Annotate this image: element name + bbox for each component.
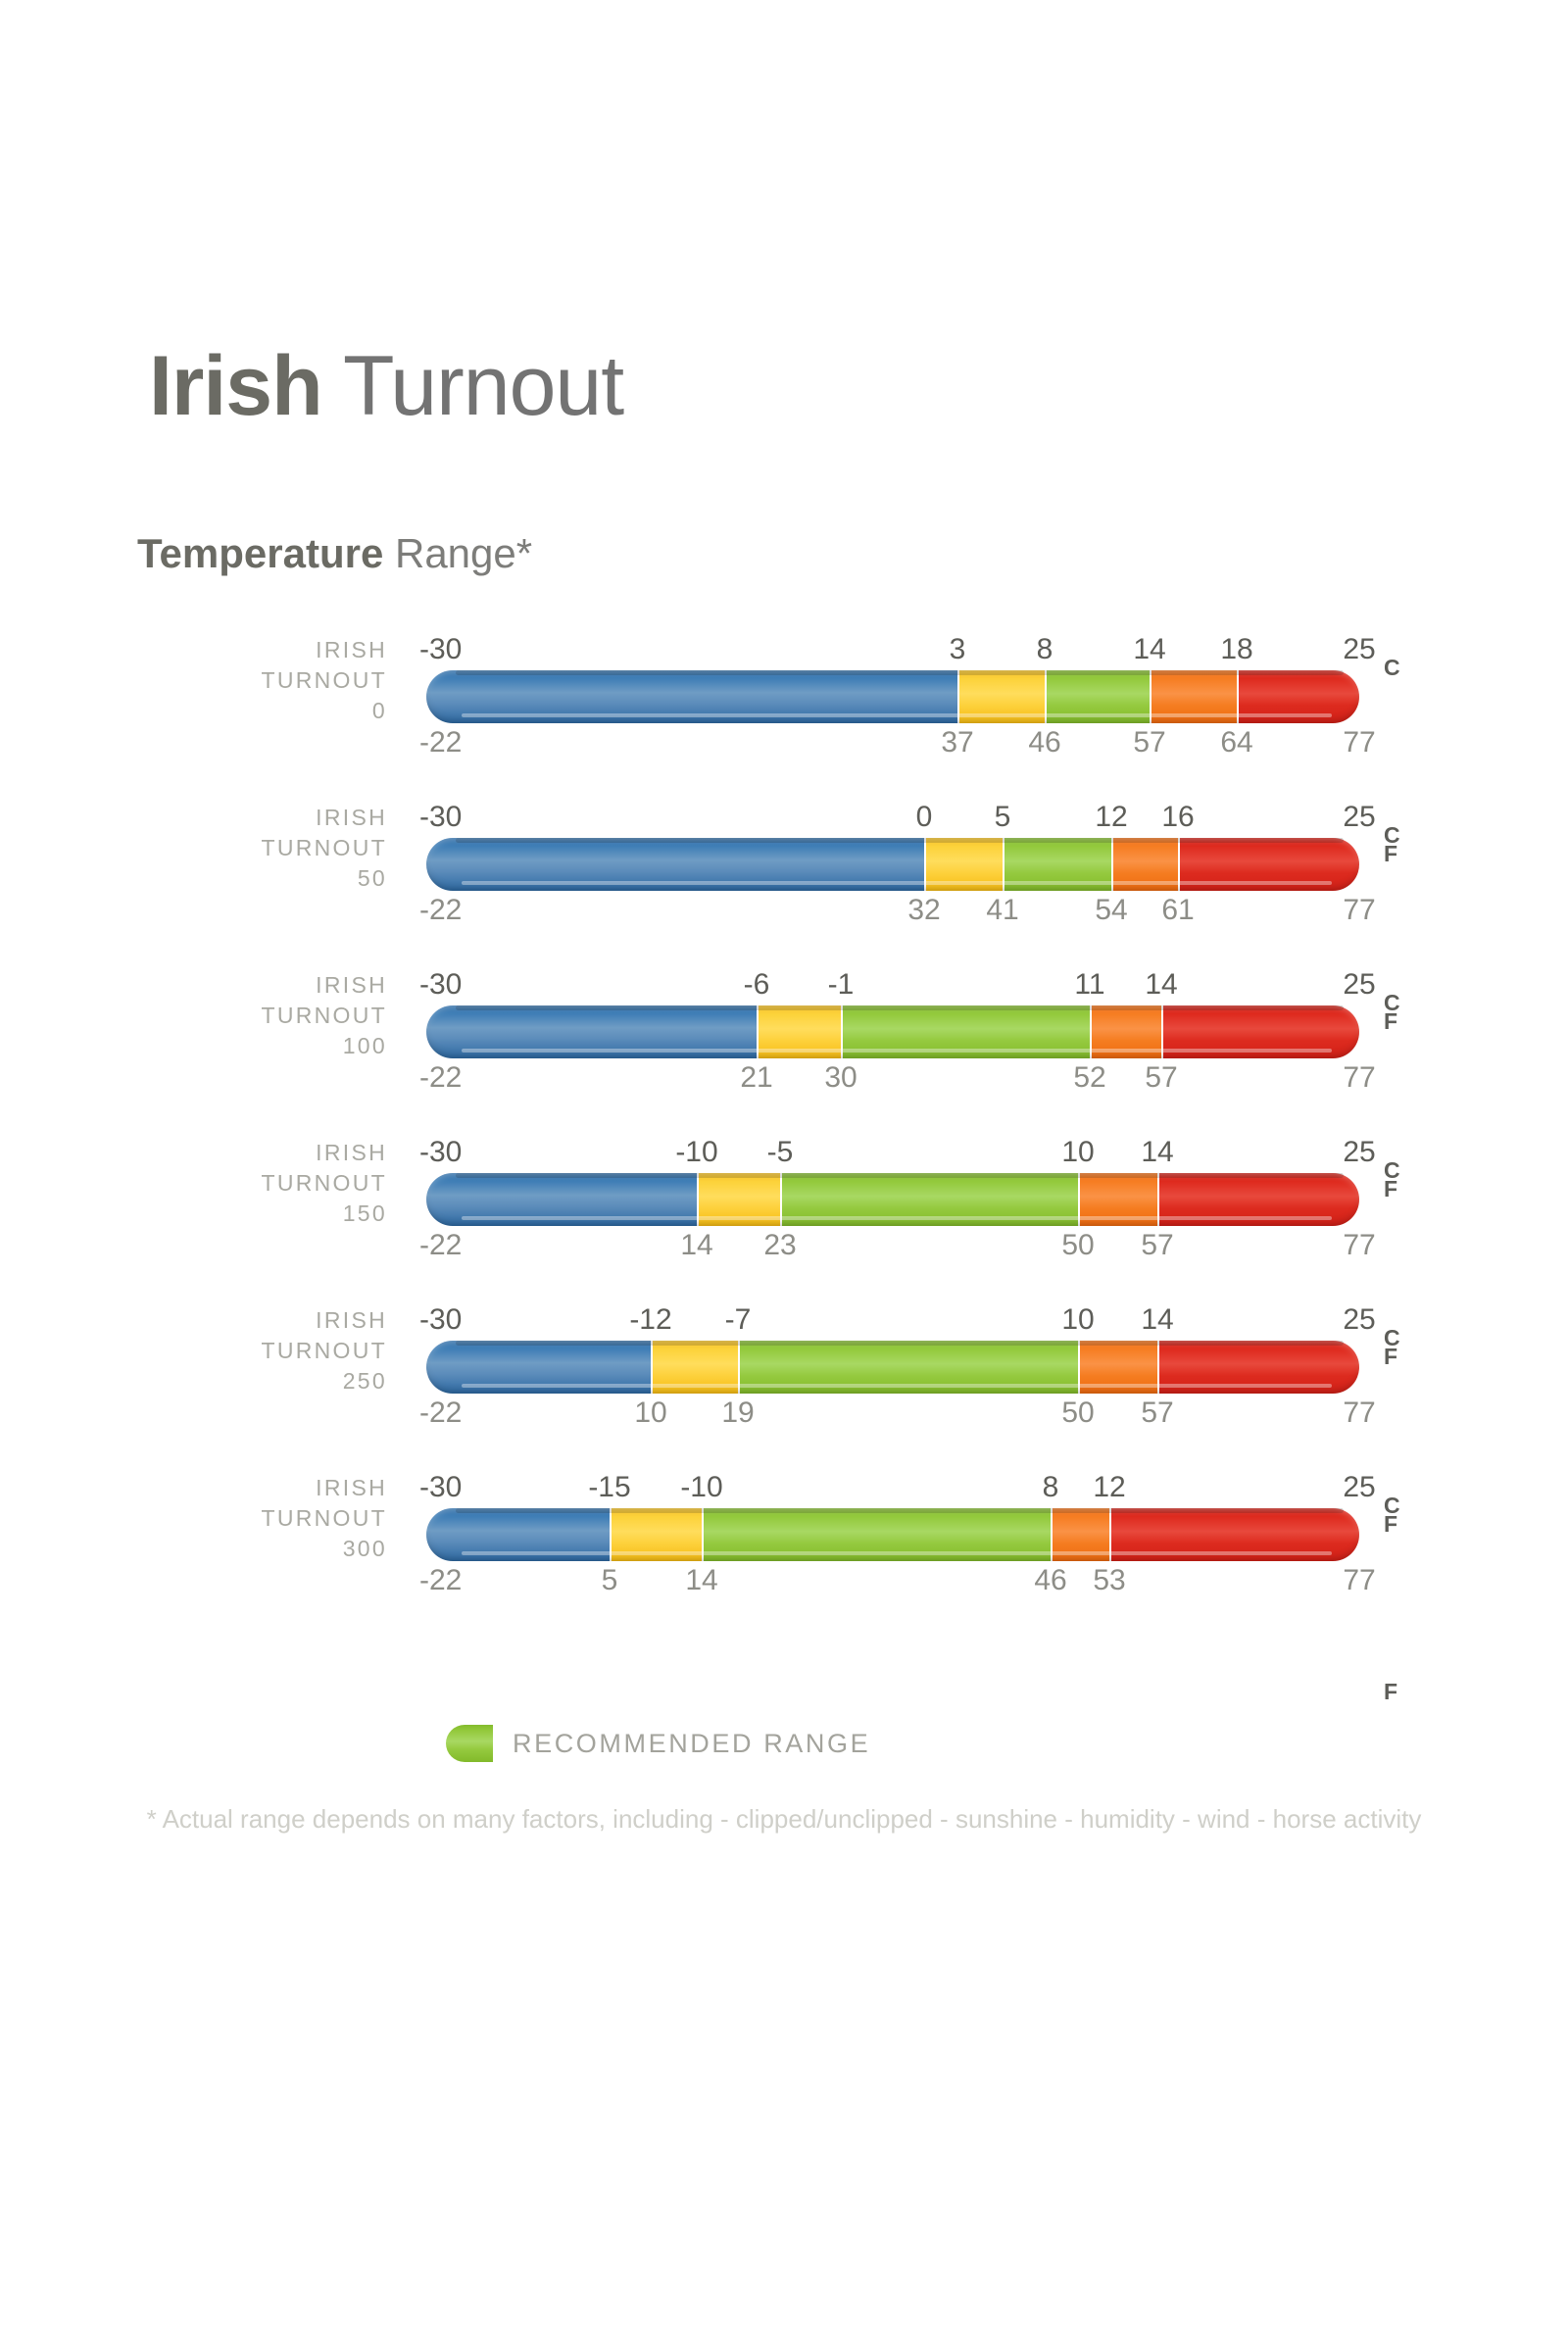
bar-segment-blue xyxy=(426,1341,651,1394)
bar-segment-red xyxy=(1157,1173,1359,1226)
tick-label: 57 xyxy=(1141,1396,1173,1430)
tick-label: 5 xyxy=(602,1564,618,1597)
tick-label: 77 xyxy=(1343,1229,1375,1262)
bar-segment-yellow xyxy=(957,670,1045,723)
row-label-line-3: 150 xyxy=(176,1199,387,1229)
tick-label: 77 xyxy=(1343,1564,1375,1597)
tick-label: -30 xyxy=(419,1303,462,1337)
bar-segment-green xyxy=(1045,670,1150,723)
bar-segment-green xyxy=(841,1005,1090,1058)
temperature-bar xyxy=(426,1341,1359,1394)
tick-row-f: -222130525777F xyxy=(0,1061,1568,1095)
bar-segment-orange xyxy=(1051,1508,1109,1561)
unit-label-c: C xyxy=(1384,1325,1400,1350)
tick-label: 50 xyxy=(1061,1396,1094,1430)
tick-label: 25 xyxy=(1343,968,1375,1002)
tick-row-c: -30-15-1081225C xyxy=(0,1471,1568,1504)
tick-label: 19 xyxy=(721,1396,754,1430)
tick-label: 61 xyxy=(1161,894,1194,927)
tick-row-c: -30-10-5101425C xyxy=(0,1136,1568,1169)
tick-label: -7 xyxy=(725,1303,752,1337)
tick-label: -22 xyxy=(419,726,462,759)
bar-track xyxy=(426,670,1359,723)
chart-row: IRISHTURNOUT100-30-6-1111425C-2221305257… xyxy=(0,951,1568,1098)
tick-label: 10 xyxy=(1061,1303,1094,1337)
tick-label: 14 xyxy=(1145,968,1177,1002)
chart-row: IRISHTURNOUT250-30-12-7101425C-221019505… xyxy=(0,1286,1568,1433)
tick-label: -5 xyxy=(767,1136,794,1169)
bar-segment-orange xyxy=(1078,1341,1157,1394)
tick-label: -15 xyxy=(588,1471,630,1504)
unit-label-c: C xyxy=(1384,990,1400,1015)
row-label-line-2: TURNOUT xyxy=(176,1503,387,1534)
tick-label: 77 xyxy=(1343,1061,1375,1095)
row-label-line-2: TURNOUT xyxy=(176,1168,387,1199)
tick-label: 11 xyxy=(1074,968,1104,1002)
tick-label: -10 xyxy=(675,1136,717,1169)
tick-label: 16 xyxy=(1161,801,1194,834)
row-label-line-3: 300 xyxy=(176,1534,387,1564)
tick-label: 77 xyxy=(1343,1396,1375,1430)
tick-label: -22 xyxy=(419,1564,462,1597)
temperature-bar xyxy=(426,1508,1359,1561)
bar-segment-red xyxy=(1161,1005,1359,1058)
tick-label: 8 xyxy=(1037,633,1053,666)
bar-segment-green xyxy=(702,1508,1051,1561)
tick-label: 57 xyxy=(1141,1229,1173,1262)
chart-row: IRISHTURNOUT300-30-15-1081225C-225144653… xyxy=(0,1453,1568,1600)
tick-label: 54 xyxy=(1095,894,1127,927)
tick-label: 25 xyxy=(1343,1471,1375,1504)
tick-label: 53 xyxy=(1093,1564,1125,1597)
tick-label: 25 xyxy=(1343,633,1375,666)
bar-segment-yellow xyxy=(610,1508,702,1561)
bar-segment-orange xyxy=(1111,838,1178,891)
bar-segment-yellow xyxy=(697,1173,780,1226)
row-label-line-2: TURNOUT xyxy=(176,833,387,863)
tick-label: 46 xyxy=(1034,1564,1066,1597)
tick-label: 23 xyxy=(763,1229,796,1262)
tick-label: -30 xyxy=(419,968,462,1002)
tick-label: -6 xyxy=(744,968,770,1002)
tick-label: -30 xyxy=(419,1471,462,1504)
tick-label: 14 xyxy=(1141,1303,1173,1337)
tick-label: 3 xyxy=(950,633,966,666)
tick-row-f: -223241546177F xyxy=(0,894,1568,927)
bar-segment-green xyxy=(780,1173,1078,1226)
tick-label: 18 xyxy=(1220,633,1252,666)
row-label-line-3: 250 xyxy=(176,1366,387,1396)
bar-segment-blue xyxy=(426,670,957,723)
tick-label: 57 xyxy=(1133,726,1165,759)
tick-label: 52 xyxy=(1073,1061,1105,1095)
bar-segment-yellow xyxy=(757,1005,841,1058)
bar-segment-orange xyxy=(1090,1005,1161,1058)
bar-segment-yellow xyxy=(924,838,1003,891)
tick-label: 25 xyxy=(1343,1136,1375,1169)
row-label-line-3: 100 xyxy=(176,1031,387,1061)
unit-label-c: C xyxy=(1384,822,1400,848)
bar-segment-orange xyxy=(1150,670,1237,723)
tick-label: 25 xyxy=(1343,1303,1375,1337)
bar-segment-blue xyxy=(426,1173,697,1226)
tick-label: 77 xyxy=(1343,894,1375,927)
bar-segment-blue xyxy=(426,1508,610,1561)
tick-label: -12 xyxy=(629,1303,671,1337)
bar-segment-red xyxy=(1157,1341,1359,1394)
tick-label: 77 xyxy=(1343,726,1375,759)
tick-label: -22 xyxy=(419,894,462,927)
bar-segment-green xyxy=(1003,838,1111,891)
tick-label: 14 xyxy=(685,1564,717,1597)
tick-label: 37 xyxy=(941,726,973,759)
tick-label: -30 xyxy=(419,1136,462,1169)
tick-row-f: -223746576477F xyxy=(0,726,1568,759)
row-label-line-3: 0 xyxy=(176,696,387,726)
tick-row-f: -22514465377F xyxy=(0,1564,1568,1597)
page-title: Irish Turnout xyxy=(149,341,623,431)
bar-track xyxy=(426,1173,1359,1226)
tick-row-c: -30-12-7101425C xyxy=(0,1303,1568,1337)
tick-label: -30 xyxy=(419,801,462,834)
chart-row: IRISHTURNOUT50-3005121625C-223241546177F xyxy=(0,783,1568,930)
temperature-bar xyxy=(426,1005,1359,1058)
tick-label: 41 xyxy=(986,894,1018,927)
tick-label: 8 xyxy=(1043,1471,1059,1504)
tick-label: 5 xyxy=(995,801,1011,834)
unit-label-c: C xyxy=(1384,655,1400,680)
tick-label: 14 xyxy=(1133,633,1165,666)
page-subtitle-light: Range* xyxy=(395,530,532,576)
temperature-bar xyxy=(426,1173,1359,1226)
tick-label: 10 xyxy=(634,1396,666,1430)
tick-label: -22 xyxy=(419,1229,462,1262)
footnote: * Actual range depends on many factors, … xyxy=(0,1803,1568,1835)
unit-label-c: C xyxy=(1384,1493,1400,1518)
tick-label: -22 xyxy=(419,1396,462,1430)
unit-label-f: F xyxy=(1384,1679,1397,1704)
bar-segment-blue xyxy=(426,1005,757,1058)
tick-label: 10 xyxy=(1061,1136,1094,1169)
tick-label: 21 xyxy=(740,1061,772,1095)
tick-row-f: -221019505777F xyxy=(0,1396,1568,1430)
temperature-bar xyxy=(426,838,1359,891)
page-title-bold: Irish xyxy=(149,339,322,433)
tick-label: 0 xyxy=(916,801,933,834)
bar-track xyxy=(426,1005,1359,1058)
tick-label: 46 xyxy=(1028,726,1060,759)
tick-row-c: -3005121625C xyxy=(0,801,1568,834)
tick-row-f: -221423505777F xyxy=(0,1229,1568,1262)
tick-label: 12 xyxy=(1093,1471,1125,1504)
row-label-line-2: TURNOUT xyxy=(176,1336,387,1366)
tick-label: 14 xyxy=(1141,1136,1173,1169)
chart-row: IRISHTURNOUT0-3038141825C-223746576477F xyxy=(0,615,1568,762)
bar-segment-red xyxy=(1109,1508,1359,1561)
page-title-light: Turnout xyxy=(343,339,623,433)
tick-label: 25 xyxy=(1343,801,1375,834)
tick-label: 14 xyxy=(680,1229,712,1262)
bar-segment-green xyxy=(738,1341,1078,1394)
tick-row-c: -30-6-1111425C xyxy=(0,968,1568,1002)
tick-row-c: -3038141825C xyxy=(0,633,1568,666)
page-subtitle-bold: Temperature xyxy=(137,530,383,576)
chart-row: IRISHTURNOUT150-30-10-5101425C-221423505… xyxy=(0,1118,1568,1265)
tick-label: 30 xyxy=(824,1061,857,1095)
tick-label: -1 xyxy=(828,968,855,1002)
page-subtitle: Temperature Range* xyxy=(137,531,532,576)
tick-label: -22 xyxy=(419,1061,462,1095)
legend-label: RECOMMENDED RANGE xyxy=(513,1728,870,1759)
bar-segment-red xyxy=(1237,670,1359,723)
recommended-range-swatch-icon xyxy=(446,1725,493,1762)
bar-track xyxy=(426,1341,1359,1394)
tick-label: 64 xyxy=(1220,726,1252,759)
tick-label: 50 xyxy=(1061,1229,1094,1262)
infographic-page: Irish Turnout Temperature Range* IRISHTU… xyxy=(0,0,1568,2352)
temperature-bar xyxy=(426,670,1359,723)
bar-segment-yellow xyxy=(651,1341,738,1394)
bar-track xyxy=(426,1508,1359,1561)
row-label-line-3: 50 xyxy=(176,863,387,894)
row-label-line-2: TURNOUT xyxy=(176,1001,387,1031)
tick-label: 32 xyxy=(907,894,940,927)
bar-track xyxy=(426,838,1359,891)
bar-segment-blue xyxy=(426,838,924,891)
tick-label: -10 xyxy=(680,1471,722,1504)
row-label-line-2: TURNOUT xyxy=(176,665,387,696)
tick-label: -30 xyxy=(419,633,462,666)
bar-segment-orange xyxy=(1078,1173,1157,1226)
tick-label: 57 xyxy=(1145,1061,1177,1095)
unit-label-c: C xyxy=(1384,1157,1400,1183)
bar-segment-red xyxy=(1178,838,1359,891)
tick-label: 12 xyxy=(1095,801,1127,834)
